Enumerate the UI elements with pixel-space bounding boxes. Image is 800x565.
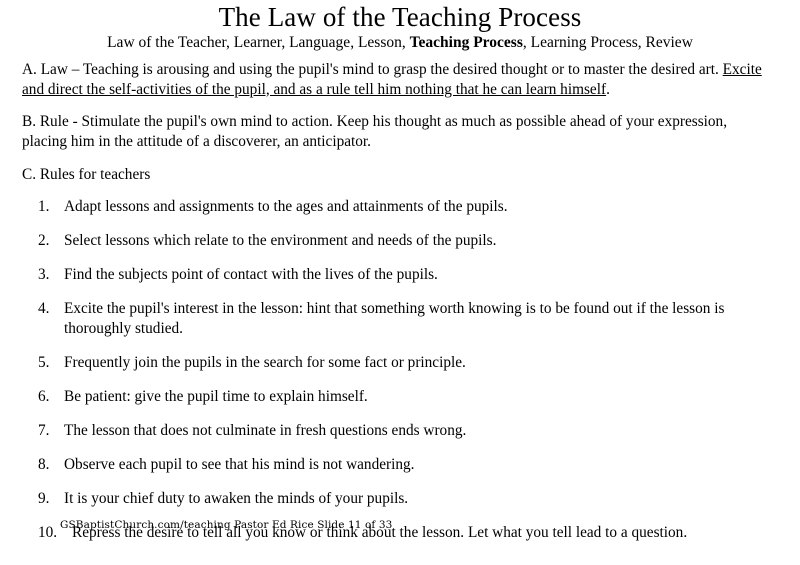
list-item: 8.Observe each pupil to see that his min…	[38, 455, 764, 475]
slide-footer: GSBaptistChurch.com/teaching Pastor Ed R…	[60, 519, 392, 532]
subtitle-emphasis: Teaching Process	[410, 34, 523, 51]
list-item-text: Be patient: give the pupil time to expla…	[64, 388, 368, 405]
list-item-text: The lesson that does not culminate in fr…	[64, 422, 466, 439]
section-a-plain-start: A. Law – Teaching is arousing and using …	[22, 61, 723, 78]
list-item-number: 9.	[38, 489, 62, 509]
list-item-text: It is your chief duty to awaken the mind…	[64, 490, 408, 507]
list-item-number: 4.	[38, 299, 62, 319]
list-item: 5.Frequently join the pupils in the sear…	[38, 353, 764, 373]
list-item-number: 1.	[38, 197, 62, 217]
list-item-text: Observe each pupil to see that his mind …	[64, 456, 414, 473]
list-item: 3.Find the subjects point of contact wit…	[38, 265, 764, 285]
list-item-text: Select lessons which relate to the envir…	[64, 232, 496, 249]
section-c-heading: C. Rules for teachers	[22, 165, 764, 185]
rules-list: 1.Adapt lessons and assignments to the a…	[22, 197, 764, 543]
section-a-plain-end: .	[606, 81, 610, 98]
list-item-number: 3.	[38, 265, 62, 285]
section-a-law: A. Law – Teaching is arousing and using …	[22, 60, 764, 99]
list-item: 7.The lesson that does not culminate in …	[38, 421, 764, 441]
slide-canvas: The Law of the Teaching Process Law of t…	[0, 0, 800, 565]
list-item: 6.Be patient: give the pupil time to exp…	[38, 387, 764, 407]
section-b-rule: B. Rule - Stimulate the pupil's own mind…	[22, 112, 764, 151]
list-item: 2.Select lessons which relate to the env…	[38, 231, 764, 251]
slide-subtitle: Law of the Teacher, Learner, Language, L…	[0, 33, 800, 52]
list-item-text: Find the subjects point of contact with …	[64, 266, 438, 283]
list-item-number: 6.	[38, 387, 62, 407]
slide-title: The Law of the Teaching Process	[0, 0, 800, 32]
list-item-number: 7.	[38, 421, 62, 441]
list-item-number: 2.	[38, 231, 62, 251]
list-item-text: Adapt lessons and assignments to the age…	[64, 198, 508, 215]
list-item-number: 5.	[38, 353, 62, 373]
list-item: 4.Excite the pupil's interest in the les…	[38, 299, 764, 339]
list-item: 1.Adapt lessons and assignments to the a…	[38, 197, 764, 217]
subtitle-text-before: Law of the Teacher, Learner, Language, L…	[107, 34, 410, 51]
list-item-text: Excite the pupil's interest in the lesso…	[64, 300, 724, 337]
list-item-text: Frequently join the pupils in the search…	[64, 354, 466, 371]
subtitle-text-after: , Learning Process, Review	[523, 34, 693, 51]
list-item: 9.It is your chief duty to awaken the mi…	[38, 489, 764, 509]
slide-body: A. Law – Teaching is arousing and using …	[22, 60, 764, 557]
list-item-number: 8.	[38, 455, 62, 475]
